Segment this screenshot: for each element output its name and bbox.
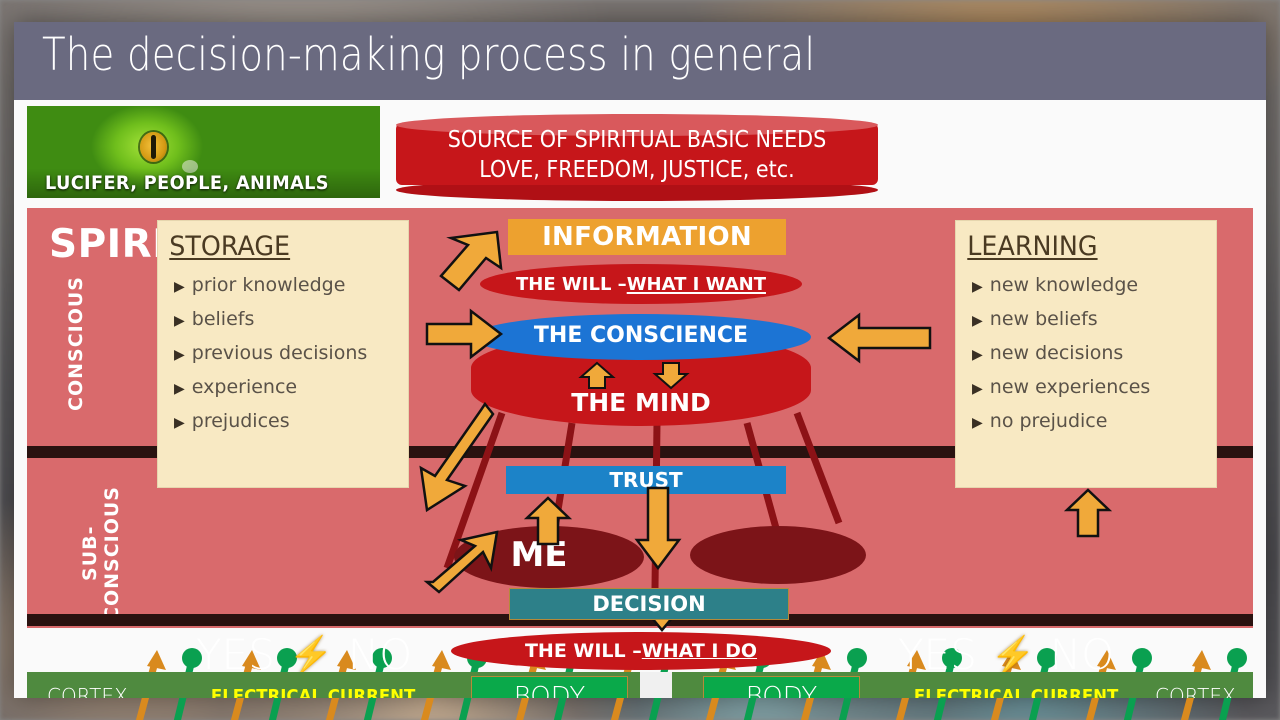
lightning-bolt-icon: ⚡: [289, 634, 334, 676]
will-want-prefix: THE WILL –: [516, 274, 627, 295]
body-box-right: BODY: [703, 676, 860, 698]
arrow-to-storage-icon: [425, 308, 505, 360]
slide-canvas: The decision-making process in general L…: [14, 22, 1266, 698]
arrow-mind-down-icon: [653, 362, 689, 390]
conscience-label: THE CONSCIENCE: [471, 323, 811, 348]
arrow-mind-up-icon: [579, 362, 615, 390]
will-what-i-do-ellipse: THE WILL – WHAT I DO: [451, 632, 831, 670]
cortex-body-strip: CORTEX ELECTRICAL CURRENT BODY BODY ELEC…: [27, 672, 1253, 698]
photo-caption: LUCIFER, PEOPLE, ANIMALS: [45, 172, 329, 194]
decision-bar: DECISION: [509, 588, 789, 620]
source-line-2: LOVE, FREEDOM, JUSTICE, etc.: [420, 155, 854, 185]
arrow-holyspirit-to-learning-icon: [1065, 488, 1111, 538]
information-banner: INFORMATION: [508, 219, 786, 255]
snake-photo: LUCIFER, PEOPLE, ANIMALS: [27, 106, 380, 198]
arrow-storage-to-me-icon: [407, 398, 499, 518]
mind-label: THE MIND: [471, 388, 811, 417]
cortex-label-right: CORTEX: [1155, 684, 1236, 698]
strip-center-gap: [640, 672, 672, 698]
source-cylinder: SOURCE OF SPIRITUAL BASIC NEEDS LOVE, FR…: [396, 114, 878, 192]
lightning-bolt-icon: ⚡: [991, 634, 1036, 676]
arrow-me-to-trust-icon: [525, 496, 571, 546]
snake-eye-icon: [140, 132, 167, 162]
mind-cylinder: THE CONSCIENCE THE MIND: [471, 314, 811, 444]
will-do-prefix: THE WILL –: [525, 640, 642, 662]
will-what-i-want-ellipse: THE WILL – WHAT I WANT: [480, 264, 802, 304]
page-title: The decision-making process in general: [42, 28, 815, 81]
electrical-current-label-left: ELECTRICAL CURRENT: [211, 686, 415, 698]
body-box-left: BODY: [471, 676, 628, 698]
electrical-current-label-right: ELECTRICAL CURRENT: [914, 686, 1118, 698]
slide-title-bar: The decision-making process in general: [14, 22, 1266, 100]
cortex-label-left: CORTEX: [47, 684, 128, 698]
will-want-emphasis: WHAT I WANT: [627, 274, 766, 295]
source-cylinder-text: SOURCE OF SPIRITUAL BASIC NEEDS LOVE, FR…: [420, 125, 854, 185]
arrow-from-learning-icon: [827, 312, 932, 364]
arrow-info-to-storage-icon: [429, 228, 509, 298]
secondary-dark-ellipse: [690, 526, 866, 584]
arrow-trust-to-decision-icon: [635, 486, 681, 570]
will-do-emphasis: WHAT I DO: [642, 640, 757, 662]
source-line-1: SOURCE OF SPIRITUAL BASIC NEEDS: [420, 125, 854, 155]
arrow-into-me-icon: [421, 530, 501, 592]
